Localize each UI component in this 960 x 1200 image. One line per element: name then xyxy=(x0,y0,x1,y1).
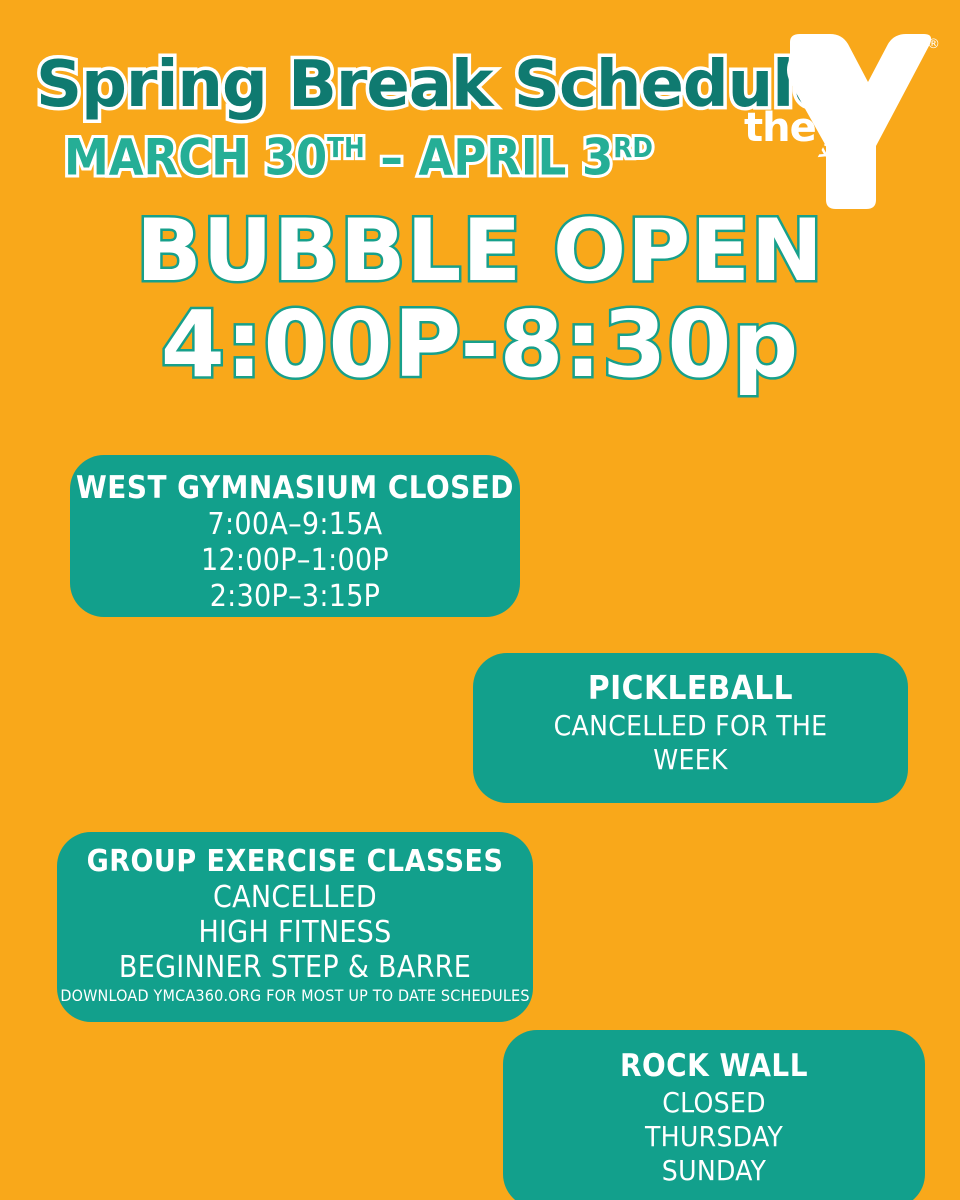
card-line: THURSDAY xyxy=(503,1120,925,1154)
card-line: 7:00A–9:15A xyxy=(70,507,520,543)
registered-trademark-icon: ® xyxy=(927,38,940,51)
ymca-logo: the ® YMCA xyxy=(736,34,936,209)
date-ordinal-rd: RD xyxy=(613,132,653,164)
card-line: 12:00P–1:00P xyxy=(70,543,520,579)
card-line: HIGH FITNESS xyxy=(57,915,533,950)
date-range: MARCH 30TH – APRIL 3RD xyxy=(36,120,736,186)
card-title: WEST GYMNASIUM CLOSED xyxy=(70,469,520,507)
card-line: CANCELLED FOR THE xyxy=(473,709,908,743)
date-ordinal-th: TH xyxy=(327,132,365,164)
card-line: CANCELLED xyxy=(57,880,533,915)
card-line: 2:30P–3:15P xyxy=(70,579,520,615)
hero-line-bubble-open: BUBBLE OPEN xyxy=(0,205,960,297)
card-pickleball: PICKLEBALL CANCELLED FOR THE WEEK xyxy=(473,653,908,803)
date-range-separator: – APRIL 3 xyxy=(365,129,614,187)
card-note-ymca360: DOWNLOAD YMCA360.ORG FOR MOST UP TO DATE… xyxy=(57,985,533,1007)
hero-line-hours: 4:00P-8:30p xyxy=(0,297,960,393)
card-title: GROUP EXERCISE CLASSES xyxy=(57,844,533,880)
card-title: PICKLEBALL xyxy=(473,667,908,709)
card-line: CLOSED xyxy=(503,1086,925,1120)
title-block: Spring Break Schedule MARCH 30TH – APRIL… xyxy=(36,52,736,186)
date-range-start: MARCH 30 xyxy=(64,129,327,187)
card-group-exercise: GROUP EXERCISE CLASSES CANCELLED HIGH FI… xyxy=(57,832,533,1022)
card-line: BEGINNER STEP & BARRE xyxy=(57,950,533,985)
card-line: SUNDAY xyxy=(503,1154,925,1188)
poster-canvas: Spring Break Schedule MARCH 30TH – APRIL… xyxy=(0,0,960,1200)
card-title: ROCK WALL xyxy=(503,1046,925,1086)
ymca-y-icon xyxy=(784,34,934,209)
card-line: WEEK xyxy=(473,743,908,777)
card-rock-wall: ROCK WALL CLOSED THURSDAY SUNDAY xyxy=(503,1030,925,1200)
card-west-gymnasium: WEST GYMNASIUM CLOSED 7:00A–9:15A 12:00P… xyxy=(70,455,520,617)
bubble-open-hero: BUBBLE OPEN 4:00P-8:30p xyxy=(0,205,960,393)
page-title: Spring Break Schedule xyxy=(36,52,736,118)
